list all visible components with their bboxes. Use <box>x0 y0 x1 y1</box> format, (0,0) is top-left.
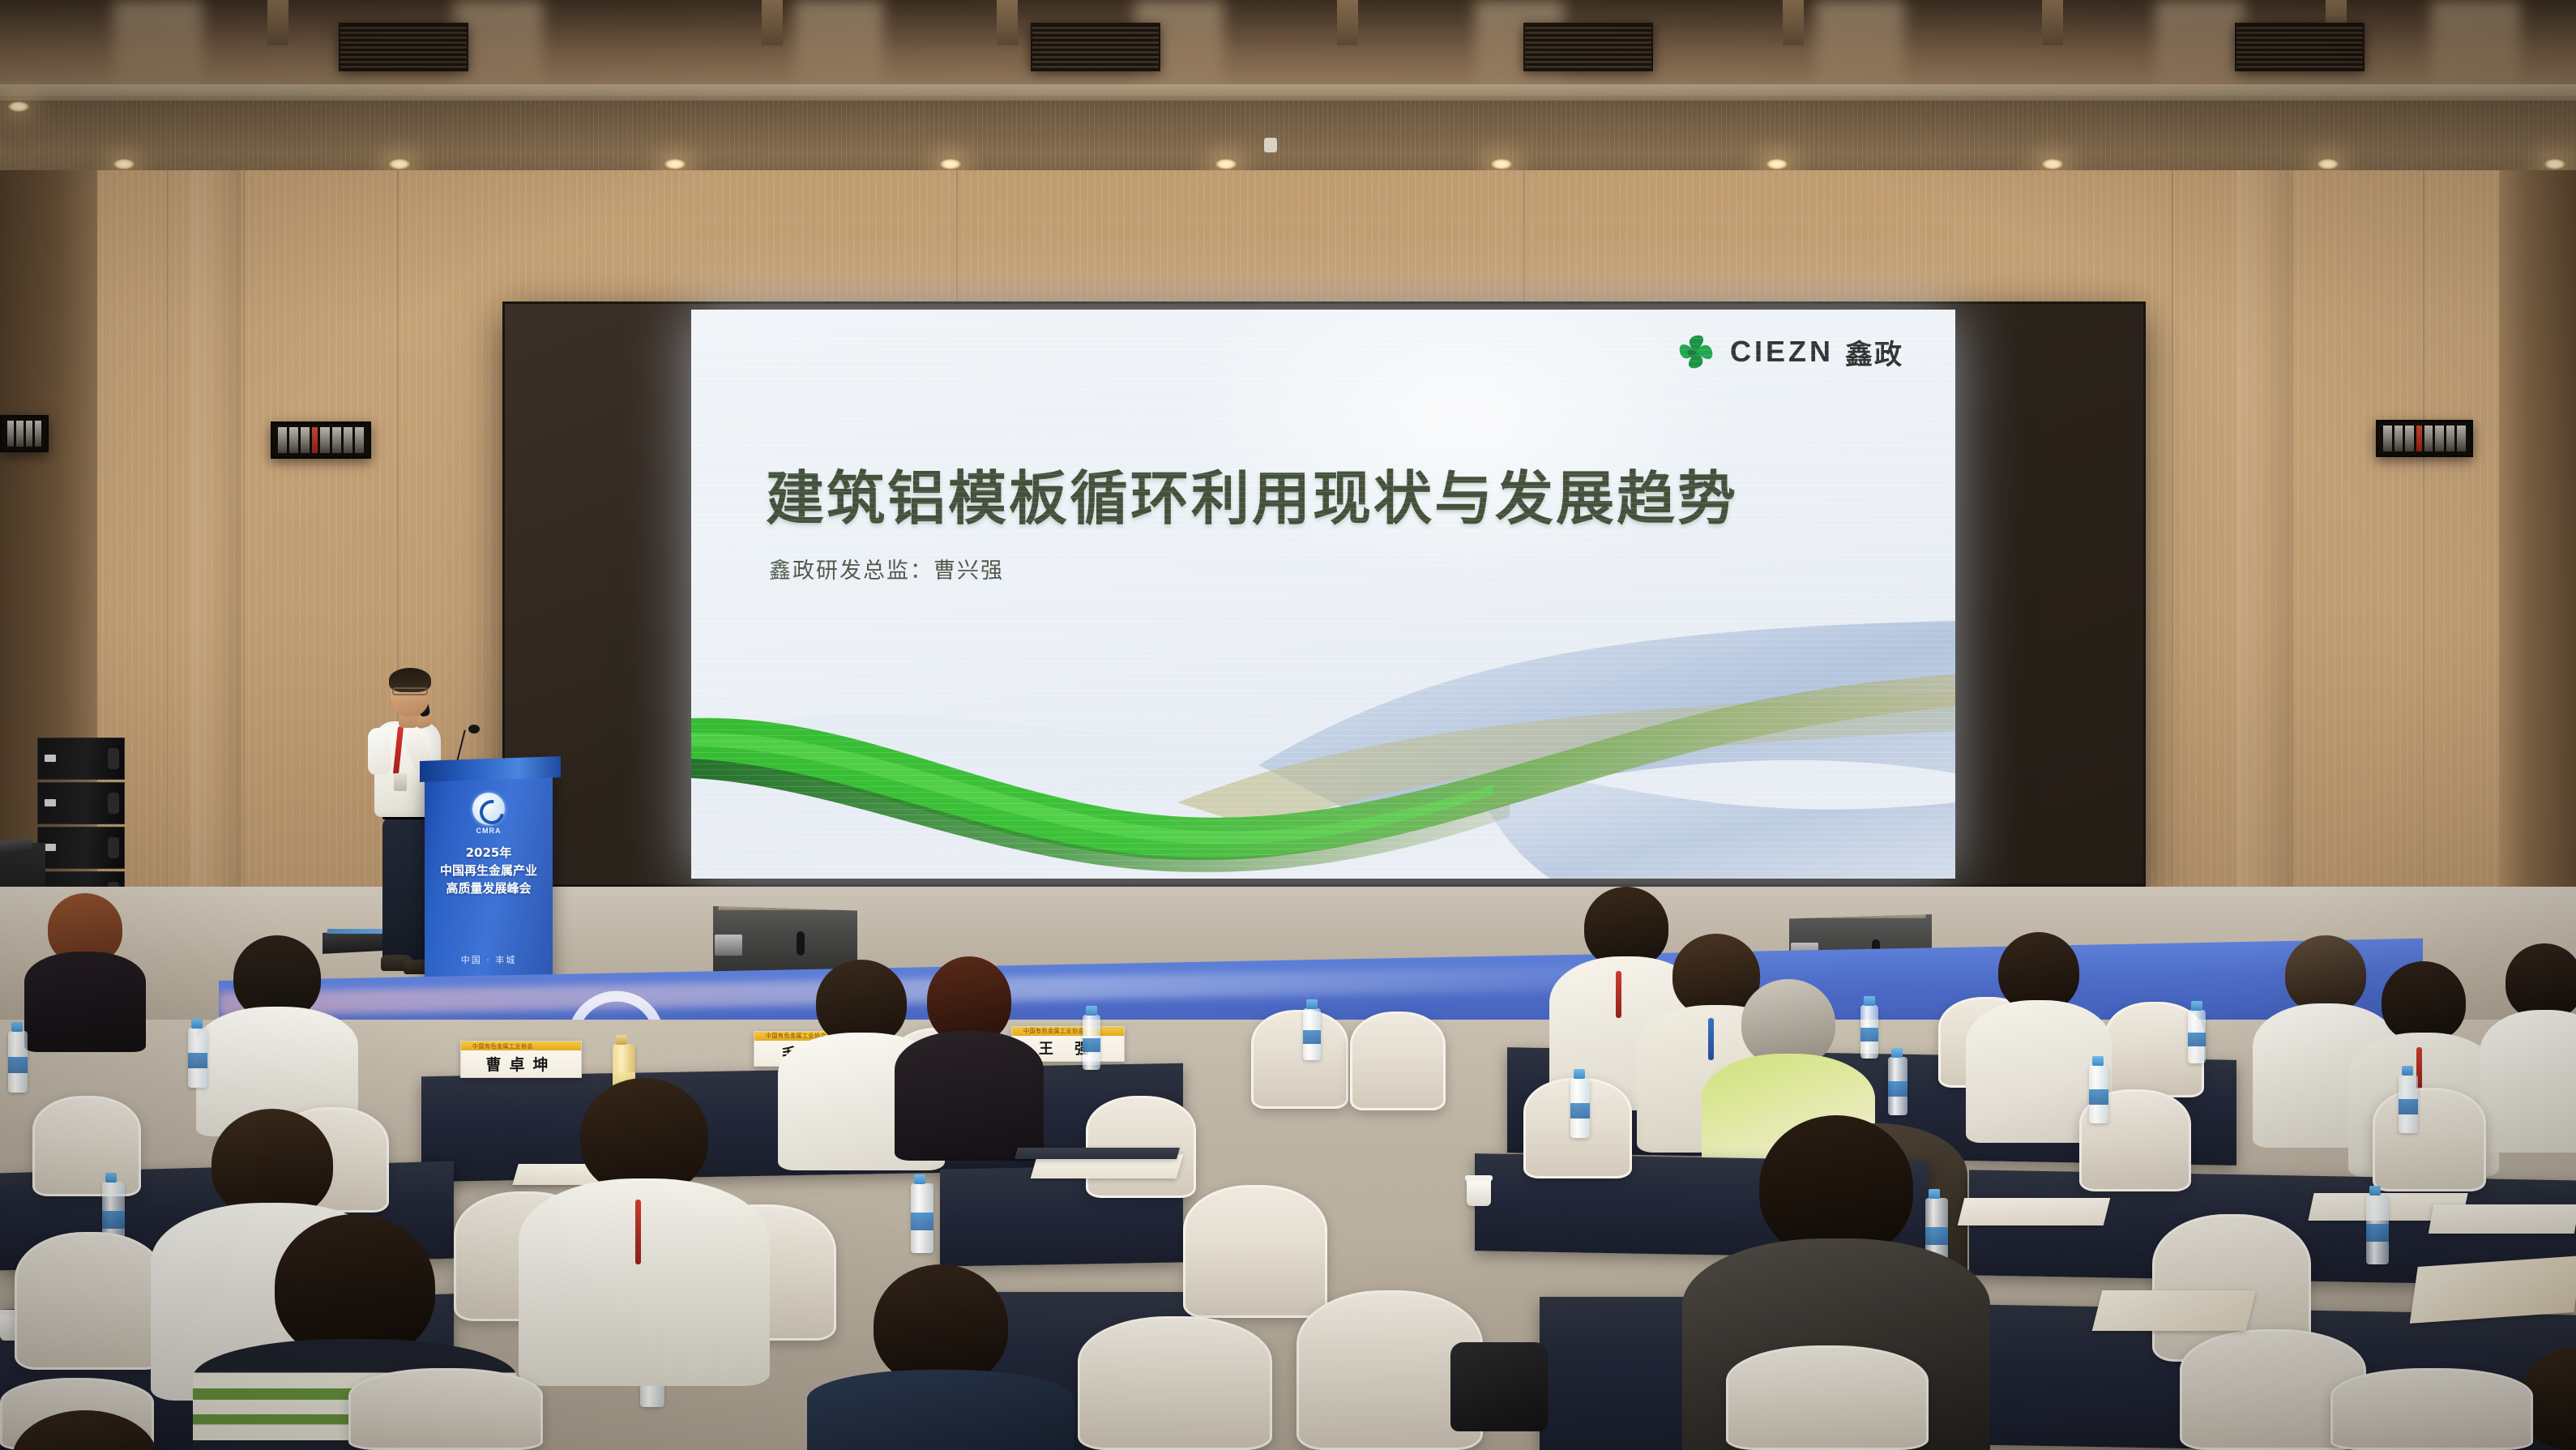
notepad <box>2429 1204 2576 1234</box>
presenter-sleeve <box>368 728 391 775</box>
wall-art-panel-right <box>2376 420 2473 457</box>
podium-microphone-capsule <box>468 725 480 734</box>
slide-logo-wordmark: CIEZN <box>1730 335 1834 369</box>
podium: CMRA 2025年 中国再生金属产业 高质量发展峰会 中国 · 丰城 <box>425 768 553 981</box>
ceiling-downlight <box>113 159 135 169</box>
ceiling-downlight <box>664 159 686 169</box>
presenter-glasses <box>392 687 428 695</box>
podium-year: 2025年 <box>425 845 553 862</box>
water-bottle <box>1888 1057 1907 1115</box>
head <box>1759 1115 1913 1258</box>
slide-subtitle: 鑫政研发总监：曹兴强 <box>769 553 1004 584</box>
wall-right-return <box>2499 170 2576 981</box>
notepad-folder <box>1015 1148 1180 1159</box>
audience-member <box>2480 943 2576 1146</box>
water-bottle <box>2089 1065 2108 1123</box>
ciezn-pinwheel-logo-icon <box>1673 329 1719 374</box>
audience-member <box>895 956 1044 1154</box>
ceiling-downlight <box>8 101 29 112</box>
water-bottle <box>2188 1010 2206 1063</box>
cmra-logo-label: CMRA <box>476 827 502 835</box>
podium-location: 中国 · 丰城 <box>425 953 553 966</box>
head <box>275 1214 435 1360</box>
ceiling-downlight <box>1766 159 1788 169</box>
slide-title: 建筑铝模板循环利用现状与发展趋势 <box>766 451 1738 536</box>
audience-member <box>24 893 146 1047</box>
podium-line-3: 高质量发展峰会 <box>425 880 553 898</box>
ceiling-vent-grille <box>1031 23 1160 71</box>
ceiling-downlight <box>1215 159 1237 169</box>
conference-chair <box>1183 1185 1327 1318</box>
presenter-badge <box>394 773 407 791</box>
conference-chair <box>1251 1010 1348 1109</box>
ceiling-cove-light <box>0 84 2576 102</box>
water-bottle <box>1303 1008 1321 1060</box>
head <box>12 1410 158 1450</box>
ceiling-downlight <box>2544 159 2565 169</box>
audience-member <box>0 1410 170 1450</box>
ceiling <box>0 0 2576 188</box>
paper-cup <box>1467 1178 1491 1206</box>
torso <box>519 1178 770 1386</box>
torso <box>24 952 146 1052</box>
ceiling-vent-grille <box>2235 23 2365 71</box>
slide-logo: CIEZN 鑫政 <box>1673 329 1903 374</box>
name-card: 中国有色金属工业协会 曹卓坤 <box>460 1041 582 1078</box>
lanyard <box>635 1200 641 1264</box>
torso <box>2480 1010 2576 1153</box>
conference-chair <box>2373 1088 2486 1191</box>
conference-chair <box>348 1368 543 1450</box>
ceiling-downlight <box>2318 159 2339 169</box>
screen-glare <box>1177 310 1745 585</box>
presentation-slide: CIEZN 鑫政 建筑铝模板循环利用现状与发展趋势 鑫政研发总监：曹兴强 <box>691 310 1955 879</box>
ceiling-vent-grille <box>339 23 468 71</box>
podium-line-2: 中国再生金属产业 <box>425 862 553 880</box>
slide-wave-graphic <box>691 611 1955 879</box>
podium-event-title: 2025年 中国再生金属产业 高质量发展峰会 <box>425 845 553 897</box>
wall-art-panel-left <box>0 415 49 452</box>
ceiling-downlight <box>1491 159 1512 169</box>
floor-bag <box>1450 1342 1548 1431</box>
water-bottle <box>188 1028 207 1088</box>
lanyard <box>1616 971 1621 1018</box>
head <box>2382 961 2466 1042</box>
conference-chair <box>1726 1345 1929 1450</box>
cmra-logo-icon <box>472 793 505 825</box>
conference-chair <box>2330 1368 2533 1450</box>
led-screen-frame: CIEZN 鑫政 建筑铝模板循环利用现状与发展趋势 鑫政研发总监：曹兴强 <box>502 302 2146 887</box>
conference-chair <box>1350 1012 1446 1110</box>
ceiling-vent-grille <box>1523 23 1653 71</box>
water-bottle <box>1570 1078 1590 1138</box>
ceiling-downlight <box>940 159 961 169</box>
podium-top-surface <box>420 756 561 782</box>
wall-art-panel-left-2 <box>271 421 371 459</box>
audience-member <box>807 1264 1074 1450</box>
conference-chair <box>1078 1316 1272 1450</box>
head <box>2506 943 2576 1020</box>
slide-logo-chinese-name: 鑫政 <box>1845 332 1903 372</box>
water-bottle <box>911 1183 933 1253</box>
name-card-name: 曹卓坤 <box>461 1050 581 1077</box>
water-bottle <box>1083 1015 1100 1070</box>
water-bottle <box>2399 1075 2418 1133</box>
conference-chair <box>1086 1096 1196 1198</box>
head <box>874 1264 1008 1386</box>
brochure <box>2092 1290 2256 1331</box>
head <box>580 1078 708 1195</box>
audience-member <box>519 1078 770 1370</box>
presenter-trousers <box>382 815 428 966</box>
conference-hall-photo: CIEZN 鑫政 建筑铝模板循环利用现状与发展趋势 鑫政研发总监：曹兴强 <box>0 0 2576 1450</box>
torso <box>895 1031 1044 1161</box>
torso <box>807 1370 1074 1450</box>
ceiling-downlight <box>2042 159 2063 169</box>
ceiling-downlight <box>1264 138 1277 152</box>
water-bottle <box>2366 1195 2389 1264</box>
conference-chair <box>32 1096 141 1196</box>
brochure <box>2410 1255 2576 1324</box>
audience-member <box>196 935 358 1122</box>
name-card-org: 中国有色金属工业协会 <box>461 1042 533 1050</box>
water-bottle <box>8 1031 28 1093</box>
conference-chair <box>15 1232 165 1370</box>
ceiling-downlight <box>389 159 410 169</box>
